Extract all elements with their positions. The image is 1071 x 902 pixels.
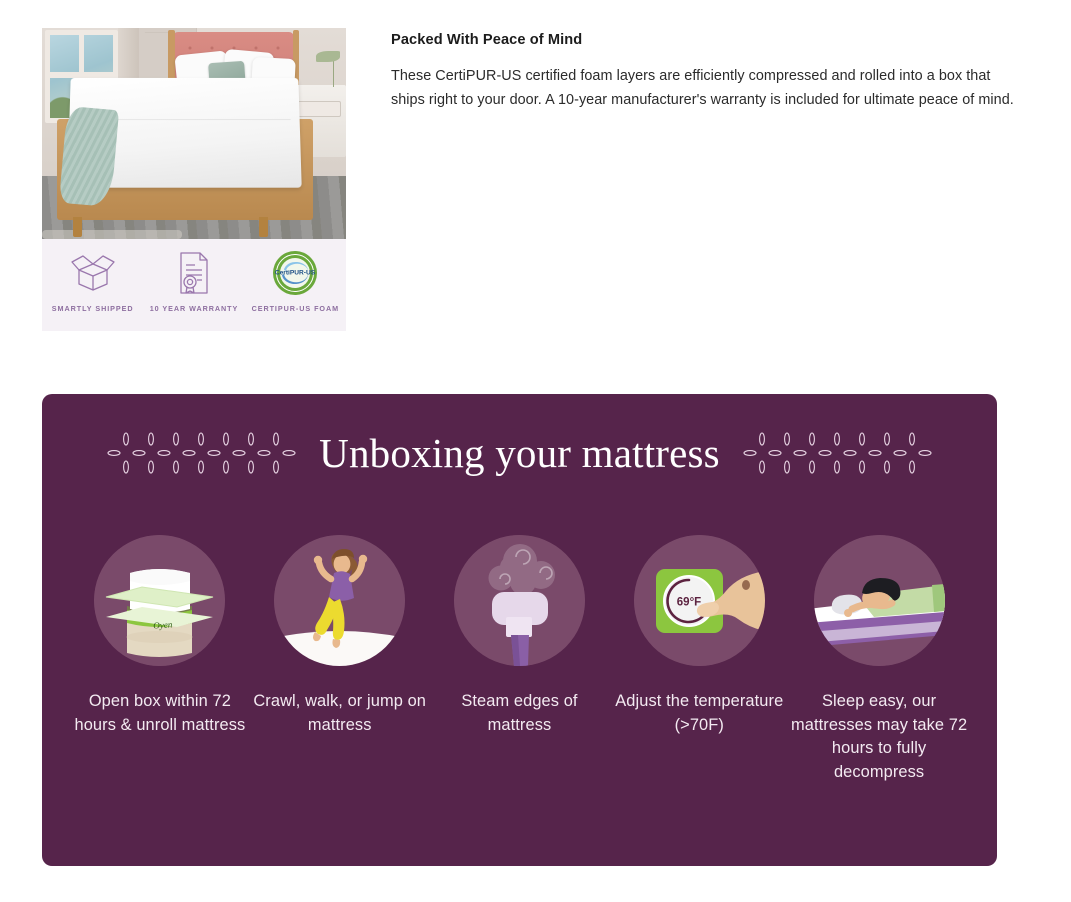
step-steam: Steam edges of mattress [430,535,610,784]
bedroom-photo [42,28,346,239]
step-open-box: Oyen Open box within 72 hours & unroll m… [70,535,250,784]
step-caption: Open box within 72 hours & unroll mattre… [70,690,250,737]
steamer-icon [454,535,585,666]
ornament-left [98,430,303,476]
open-box-mattress-icon: Oyen [94,535,225,666]
badge-label: SMARTLY SHIPPED [52,304,134,313]
person-jumping-icon [274,535,405,666]
packed-with-peace-of-mind-section: SMARTLY SHIPPED 10 YEAR WARRANTY [42,28,1027,333]
section-heading: Packed With Peace of Mind [391,32,1016,48]
thermostat-icon: 69°F [634,535,765,666]
bed-leg-right [259,217,268,237]
badge-smartly-shipped: SMARTLY SHIPPED [42,248,143,313]
certipur-seal-icon: CertiPUR-US [272,248,318,298]
section-body: These CertiPUR-US certified foam layers … [391,65,1016,112]
trust-badge-strip: SMARTLY SHIPPED 10 YEAR WARRANTY [42,239,346,331]
step-jump: Crawl, walk, or jump on mattress [250,535,430,784]
bed-leg-left [73,217,82,237]
peace-of-mind-copy: Packed With Peace of Mind These CertiPUR… [391,32,1016,112]
ornament-right [736,430,941,476]
step-temperature: 69°F Adjust the temperature (>70F) [609,535,789,784]
badge-warranty: 10 YEAR WARRANTY [143,248,244,313]
badge-certipur: CertiPUR-US CERTIPUR-US FOAM [245,248,346,313]
person-sleeping-icon [814,535,945,666]
svg-text:Oyen: Oyen [153,619,173,630]
step-caption: Adjust the temperature (>70F) [609,690,789,737]
badge-label: 10 YEAR WARRANTY [150,304,239,313]
step-caption: Crawl, walk, or jump on mattress [250,690,430,737]
nightstand-drawer [297,101,341,117]
banner-title: Unboxing your mattress [319,429,720,477]
unboxing-steps: Oyen Open box within 72 hours & unroll m… [70,535,969,784]
open-box-icon [69,248,117,298]
certificate-icon [176,248,212,298]
unboxing-banner: Unboxing your mattress [42,394,997,866]
area-rug [42,230,182,239]
step-caption: Steam edges of mattress [430,690,610,737]
banner-header: Unboxing your mattress [42,422,997,484]
plant-leaf [316,51,340,62]
thermostat-temperature-value: 69°F [677,597,701,609]
step-caption: Sleep easy, our mattresses may take 72 h… [789,690,969,784]
product-image-card: SMARTLY SHIPPED 10 YEAR WARRANTY [42,28,346,331]
svg-text:CertiPUR-US: CertiPUR-US [275,270,316,277]
step-sleep: Sleep easy, our mattresses may take 72 h… [789,535,969,784]
badge-label: CERTIPUR-US FOAM [252,304,339,313]
